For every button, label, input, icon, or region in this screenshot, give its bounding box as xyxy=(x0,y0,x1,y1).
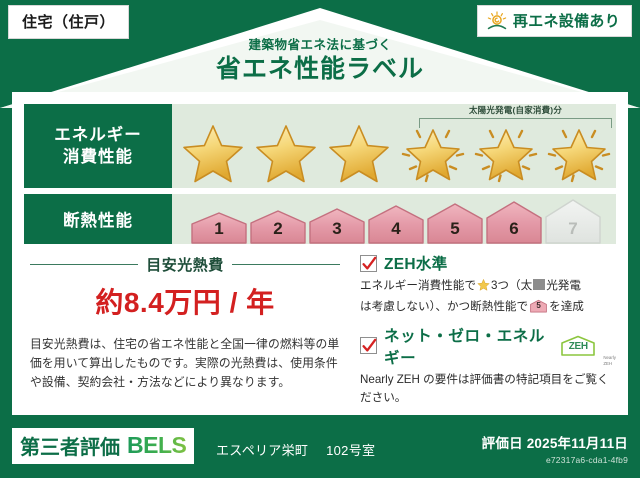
insulation-house-5: 5 xyxy=(426,201,484,244)
cost-value: 約8.4万円 / 年 xyxy=(30,281,340,321)
evaluation-info: 評価日 2025年11月11日 e72317a6-cda1-4fb9 xyxy=(482,432,628,465)
cost-rule-left xyxy=(30,264,138,266)
insulation-house-6: 6 xyxy=(485,199,543,244)
zeh-logo-subtext: Nearly ZEH xyxy=(603,355,616,365)
bels-logo-en: BELS xyxy=(127,432,186,459)
net-zero-heading: ネット・ゼロ・エネルギー ZEH Nearly ZEH xyxy=(360,324,616,368)
solar-sun-icon xyxy=(486,11,508,31)
energy-label-line2: 消費性能 xyxy=(63,146,133,168)
label-footer: 第三者評価 BELS エスペリア栄町 102号室 評価日 2025年11月11日… xyxy=(0,415,640,478)
bels-logo-jp: 第三者評価 xyxy=(20,431,120,460)
star-3 xyxy=(326,120,392,184)
star-6-solar xyxy=(546,120,612,184)
room-number: 102号室 xyxy=(326,443,375,458)
net-zero-energy-block: ネット・ゼロ・エネルギー ZEH Nearly ZEH Nearly ZEH xyxy=(360,324,616,409)
cost-note: 目安光熱費は、住宅の省エネ性能と全国一律の燃料等の単価を用いて算出したものです。… xyxy=(30,335,340,392)
evaluation-date: 評価日 2025年11月11日 xyxy=(482,432,628,452)
building-name: エスペリア栄町 xyxy=(216,443,308,458)
zeh-standard-body: エネルギー消費性能で3つ（太光発電は考慮しない）、かつ断熱性能で5を達成 xyxy=(360,277,616,317)
energy-performance-label: エネルギー 消費性能 xyxy=(24,104,172,188)
insulation-house-2: 2 xyxy=(249,208,307,244)
check-icon xyxy=(362,338,377,354)
inline-house-icon: 5 xyxy=(530,299,547,313)
zeh-body-part3: は考慮しない）、かつ断熱性能で xyxy=(360,300,528,313)
insulation-performance-row: 断熱性能 xyxy=(24,194,616,244)
renewable-badge-label: 再エネ設備あり xyxy=(513,10,620,31)
zeh-logo: ZEH xyxy=(560,335,596,357)
insulation-house-7-number: 7 xyxy=(544,219,602,239)
zeh-body-star-count: 3つ（太 xyxy=(491,279,532,292)
header-subtitle: 建築物省エネ法に基づく xyxy=(0,38,640,53)
energy-label-line1: エネルギー xyxy=(54,124,142,146)
insulation-grades-area: 1 2 3 xyxy=(172,194,616,244)
insulation-house-3: 3 xyxy=(308,206,366,244)
renewable-energy-badge: 再エネ設備あり xyxy=(477,5,632,37)
zeh-standard-block: ZEH水準 エネルギー消費性能で3つ（太光発電は考慮しない）、かつ断熱性能で5を… xyxy=(360,252,616,317)
insulation-house-1: 1 xyxy=(190,210,248,244)
label-details: 目安光熱費 約8.4万円 / 年 目安光熱費は、住宅の省エネ性能と全国一律の燃料… xyxy=(24,252,616,402)
label-card: エネルギー 消費性能 太陽光発電(自家消費)分 xyxy=(12,92,628,415)
zeh-body-part1: エネルギー消費性能で xyxy=(360,279,476,292)
zeh-standard-heading: ZEH水準 xyxy=(360,252,616,274)
cost-rule-right xyxy=(232,264,340,266)
insulation-house-6-number: 6 xyxy=(485,219,543,239)
insulation-house-4: 4 xyxy=(367,203,425,244)
zeh-body-part2: 光発電 xyxy=(546,279,581,292)
insulation-house-3-number: 3 xyxy=(308,219,366,239)
insulation-house-2-number: 2 xyxy=(249,219,307,239)
cost-heading-row: 目安光熱費 xyxy=(30,254,340,275)
insulation-house-7: 7 xyxy=(544,197,602,244)
inline-house-grade: 5 xyxy=(530,300,547,313)
category-badge: 住宅（住戸） xyxy=(8,5,129,39)
insulation-house-5-number: 5 xyxy=(426,219,484,239)
building-info: エスペリア栄町 102号室 xyxy=(216,440,375,459)
star-rating xyxy=(180,118,612,186)
redacted-character xyxy=(533,279,545,290)
solar-bracket-caption: 太陽光発電(自家消費)分 xyxy=(419,104,612,116)
evaluation-id: e72317a6-cda1-4fb9 xyxy=(482,455,628,465)
net-zero-checkbox xyxy=(360,337,377,354)
net-zero-body: Nearly ZEH の要件は評価書の特記項目をご覧ください。 xyxy=(360,371,616,409)
zeh-logo-sub-line2: ZEH xyxy=(603,361,612,366)
energy-performance-label: 建築物省エネ法に基づく 省エネ性能ラベル 住宅（住戸） 再エネ設備あり エネルギ… xyxy=(0,0,640,478)
star-2 xyxy=(253,120,319,184)
star-1 xyxy=(180,120,246,184)
energy-cost-column: 目安光熱費 約8.4万円 / 年 目安光熱費は、住宅の省エネ性能と全国一律の燃料… xyxy=(30,252,340,392)
bels-logo: 第三者評価 BELS xyxy=(12,428,194,464)
header-title-group: 建築物省エネ法に基づく 省エネ性能ラベル xyxy=(0,38,640,85)
insulation-house-1-number: 1 xyxy=(190,219,248,239)
insulation-house-scale: 1 2 3 xyxy=(184,194,608,244)
zeh-body-part4: を達成 xyxy=(549,300,584,313)
check-icon xyxy=(362,256,377,272)
zeh-standard-title: ZEH水準 xyxy=(384,252,448,274)
header-title: 省エネ性能ラベル xyxy=(0,54,640,85)
energy-stars-area: 太陽光発電(自家消費)分 xyxy=(172,104,616,188)
insulation-house-4-number: 4 xyxy=(367,219,425,239)
zeh-standard-checkbox xyxy=(360,255,377,272)
zeh-logo-text: ZEH xyxy=(560,341,596,352)
star-4-solar xyxy=(400,120,466,184)
inline-star-icon xyxy=(477,278,490,298)
cost-heading: 目安光熱費 xyxy=(146,254,224,275)
star-5-solar xyxy=(473,120,539,184)
certification-column: ZEH水準 エネルギー消費性能で3つ（太光発電は考慮しない）、かつ断熱性能で5を… xyxy=(360,252,616,415)
insulation-performance-label: 断熱性能 xyxy=(24,194,172,244)
energy-performance-row: エネルギー 消費性能 太陽光発電(自家消費)分 xyxy=(24,104,616,188)
net-zero-title: ネット・ゼロ・エネルギー xyxy=(384,324,553,368)
